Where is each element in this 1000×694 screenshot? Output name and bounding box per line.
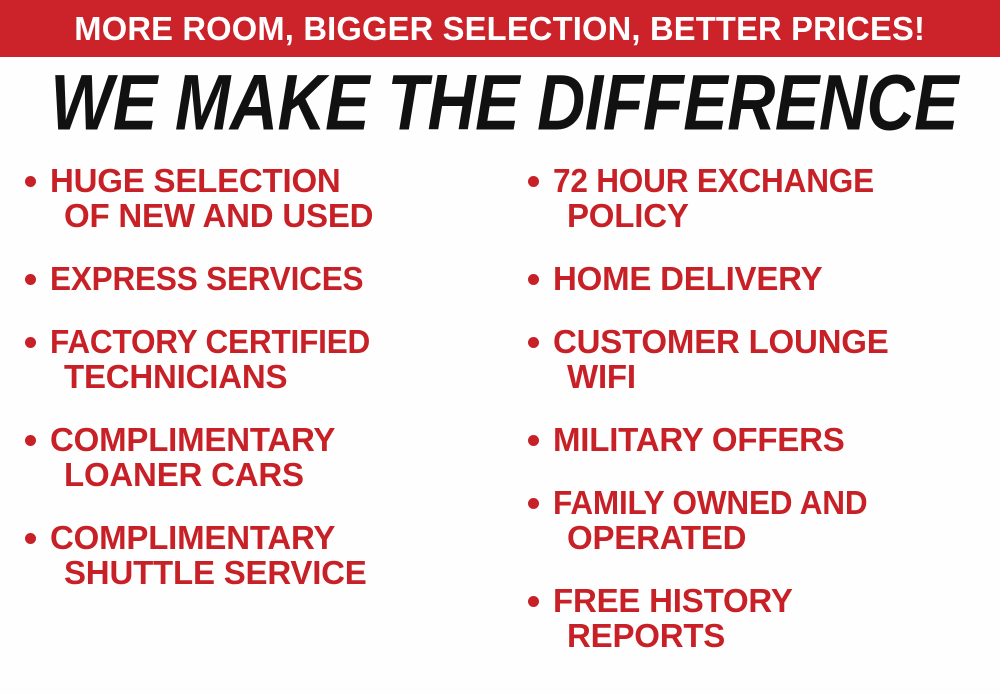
bullet-dot-icon (25, 176, 36, 187)
benefit-item-line: WIFI (553, 359, 991, 394)
benefit-item: 72 HOUR EXCHANGEPOLICY (521, 163, 991, 233)
bullet-dot-icon (528, 596, 539, 607)
benefit-item-text: FACTORY CERTIFIEDTECHNICIANS (50, 324, 498, 394)
benefit-item: COMPLIMENTARYSHUTTLE SERVICE (18, 520, 498, 590)
benefit-item-line: 72 HOUR EXCHANGE (553, 163, 991, 198)
benefits-column-left: HUGE SELECTIONOF NEW AND USEDEXPRESS SER… (18, 163, 498, 618)
bullet-dot-icon (528, 176, 539, 187)
benefit-item-line: HUGE SELECTION (50, 163, 498, 198)
benefits-column-right: 72 HOUR EXCHANGEPOLICYHOME DELIVERYCUSTO… (521, 163, 991, 681)
headline-text: WE MAKE THE DIFFERENCE (50, 64, 958, 142)
benefit-item-line: COMPLIMENTARY (50, 422, 498, 457)
benefit-item-text: COMPLIMENTARYLOANER CARS (50, 422, 498, 492)
benefit-item-text: MILITARY OFFERS (553, 422, 991, 457)
benefit-item-text: CUSTOMER LOUNGEWIFI (553, 324, 991, 394)
benefit-item-line: OPERATED (553, 520, 991, 555)
benefit-item-line: LOANER CARS (50, 457, 498, 492)
benefit-item-text: FREE HISTORYREPORTS (553, 583, 991, 653)
benefit-item: FACTORY CERTIFIEDTECHNICIANS (18, 324, 498, 394)
promo-banner: MORE ROOM, BIGGER SELECTION, BETTER PRIC… (0, 0, 1000, 57)
promo-banner-text: MORE ROOM, BIGGER SELECTION, BETTER PRIC… (75, 12, 926, 45)
bullet-dot-icon (528, 435, 539, 446)
benefit-item-text: HUGE SELECTIONOF NEW AND USED (50, 163, 498, 233)
bullet-dot-icon (528, 337, 539, 348)
benefit-item-text: EXPRESS SERVICES (50, 261, 498, 296)
benefit-item-text: 72 HOUR EXCHANGEPOLICY (553, 163, 991, 233)
benefit-item-line: POLICY (553, 198, 991, 233)
benefit-item-line: HOME DELIVERY (553, 261, 991, 296)
benefit-item: COMPLIMENTARYLOANER CARS (18, 422, 498, 492)
benefit-item-line: FACTORY CERTIFIED (50, 324, 498, 359)
benefit-item-line: FREE HISTORY (553, 583, 991, 618)
benefit-item-text: HOME DELIVERY (553, 261, 991, 296)
benefit-item-line: MILITARY OFFERS (553, 422, 991, 457)
benefit-item: HUGE SELECTIONOF NEW AND USED (18, 163, 498, 233)
benefit-item-line: REPORTS (553, 618, 991, 653)
bullet-dot-icon (25, 533, 36, 544)
benefits-columns: HUGE SELECTIONOF NEW AND USEDEXPRESS SER… (0, 163, 1000, 694)
benefit-item-text: COMPLIMENTARYSHUTTLE SERVICE (50, 520, 498, 590)
benefit-item-line: EXPRESS SERVICES (50, 261, 498, 296)
bullet-dot-icon (25, 274, 36, 285)
benefit-item-line: OF NEW AND USED (50, 198, 498, 233)
bullet-dot-icon (528, 498, 539, 509)
benefit-item: EXPRESS SERVICES (18, 261, 498, 296)
bullet-dot-icon (528, 274, 539, 285)
bullet-dot-icon (25, 435, 36, 446)
benefit-item-line: SHUTTLE SERVICE (50, 555, 498, 590)
benefit-item: CUSTOMER LOUNGEWIFI (521, 324, 991, 394)
benefit-item: HOME DELIVERY (521, 261, 991, 296)
benefit-item-line: FAMILY OWNED AND (553, 485, 991, 520)
headline: WE MAKE THE DIFFERENCE (0, 64, 1000, 138)
bullet-dot-icon (25, 337, 36, 348)
benefit-item: FREE HISTORYREPORTS (521, 583, 991, 653)
benefit-item-line: COMPLIMENTARY (50, 520, 498, 555)
benefit-item: FAMILY OWNED ANDOPERATED (521, 485, 991, 555)
benefit-item-line: CUSTOMER LOUNGE (553, 324, 991, 359)
benefit-item: MILITARY OFFERS (521, 422, 991, 457)
benefit-item-text: FAMILY OWNED ANDOPERATED (553, 485, 991, 555)
benefit-item-line: TECHNICIANS (50, 359, 498, 394)
